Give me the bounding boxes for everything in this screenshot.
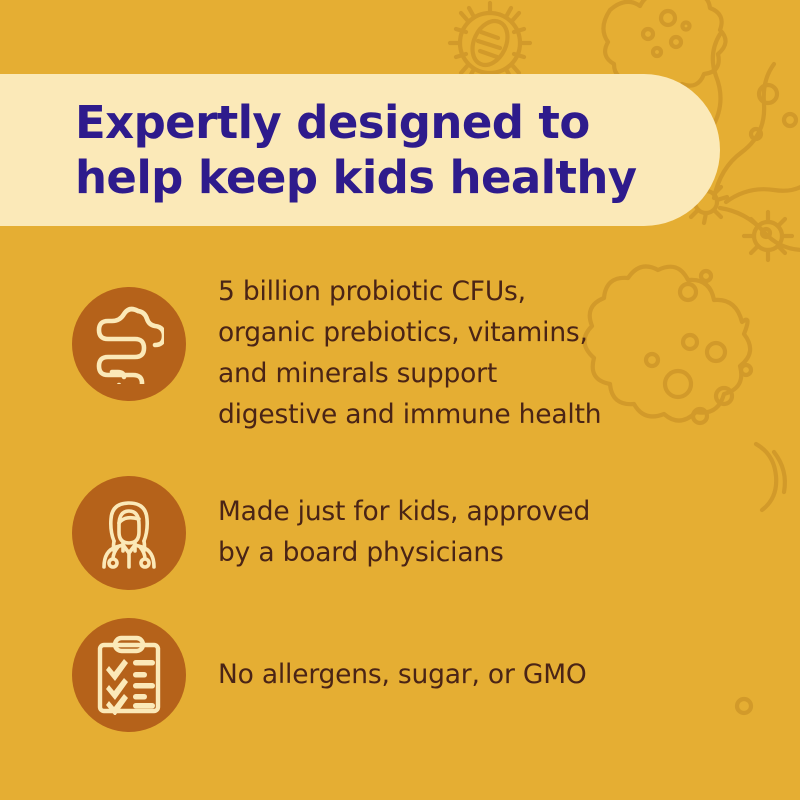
feature-text-line: Made just for kids, approved bbox=[218, 491, 718, 532]
feature-text-line: by a board physicians bbox=[218, 532, 718, 573]
feature-text: No allergens, sugar, or GMO bbox=[218, 654, 718, 695]
feature-icon-circle bbox=[72, 618, 186, 732]
headline-line-2: help keep kids healthy bbox=[75, 150, 675, 205]
feature-text-line: 5 billion probiotic CFUs, bbox=[218, 271, 718, 312]
clipboard-checklist-icon bbox=[93, 635, 165, 715]
feature-icon-circle bbox=[72, 287, 186, 401]
promo-poster: Expertly designed to help keep kids heal… bbox=[0, 0, 800, 800]
spiky-microbe-icon bbox=[744, 212, 792, 260]
headline-line-1: Expertly designed to bbox=[75, 95, 675, 150]
feature-text-line: organic prebiotics, vitamins, bbox=[218, 312, 718, 353]
feature-text: 5 billion probiotic CFUs, organic prebio… bbox=[218, 271, 718, 435]
page-title: Expertly designed to help keep kids heal… bbox=[75, 95, 675, 205]
feature-text-line: digestive and immune health bbox=[218, 394, 718, 435]
intestine-icon bbox=[94, 304, 164, 384]
feature-text-line: No allergens, sugar, or GMO bbox=[218, 654, 718, 695]
spiky-microbe-icon bbox=[450, 3, 530, 83]
feature-text-line: and minerals support bbox=[218, 353, 718, 394]
feature-text: Made just for kids, approved by a board … bbox=[218, 491, 718, 573]
flagella-squiggle-icon bbox=[756, 444, 785, 510]
physician-icon bbox=[91, 495, 167, 571]
feature-icon-circle bbox=[72, 476, 186, 590]
